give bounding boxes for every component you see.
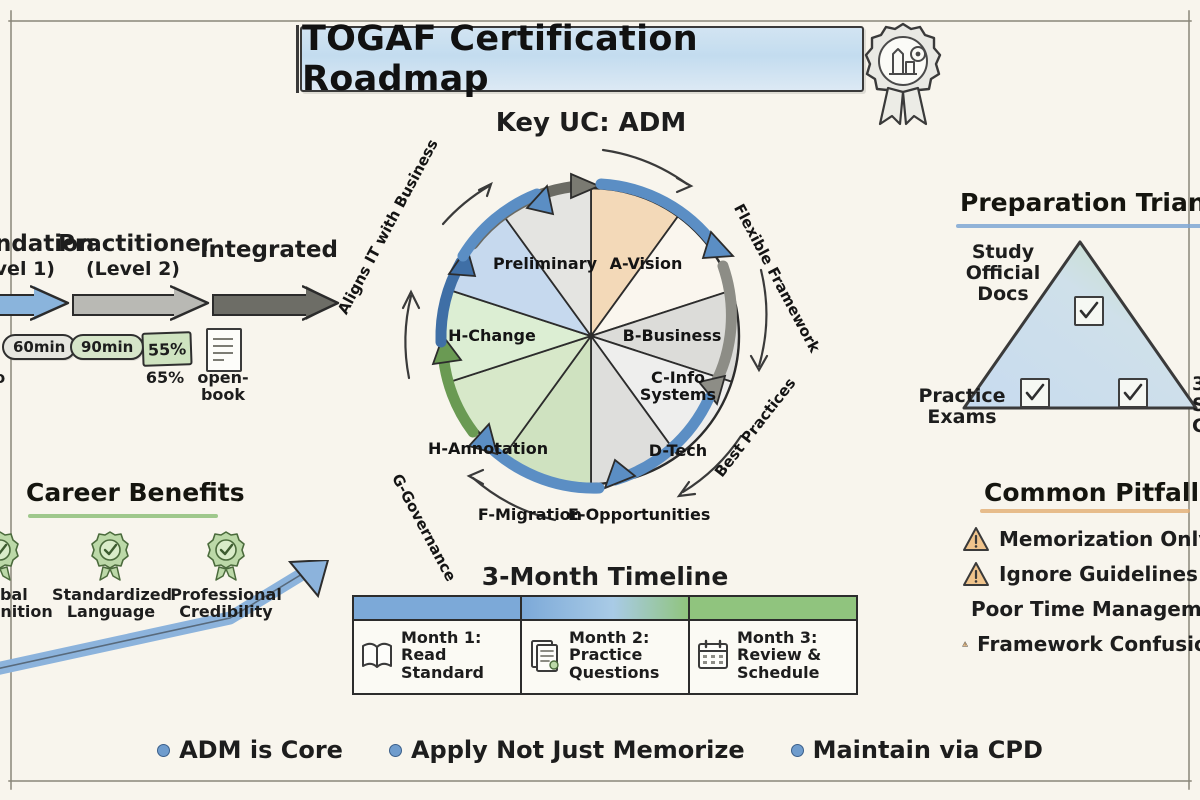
warning-triangle-icon	[962, 631, 968, 657]
timeline-month-3[interactable]: Month 3: Review & Schedule	[690, 597, 856, 693]
timeline-table: Month 1: Read Standard Month 2: Practice…	[352, 595, 858, 695]
award-badge-icon	[0, 530, 20, 582]
career-heading: Career Benefits	[26, 478, 245, 507]
wheel-segment-d-tech: D-Tech	[636, 443, 720, 460]
calendar-icon	[696, 638, 730, 672]
pitfall-label-3: Framework Confusion	[977, 632, 1200, 656]
timeline-bar-3	[690, 597, 856, 621]
wheel-segment-b-business: B-Business	[614, 328, 730, 345]
prep-underline	[956, 224, 1200, 228]
pitfalls-underline	[980, 509, 1190, 513]
wheel-segment-a-vision: A-Vision	[594, 256, 698, 273]
title-banner-accent	[296, 25, 299, 93]
pitfall-label-2: Poor Time Management	[971, 597, 1200, 621]
career-underline	[28, 514, 218, 518]
timeline-label-3: Month 3: Review & Schedule	[737, 629, 821, 682]
bullet-dot-icon	[791, 744, 804, 757]
career-label-2: Professional Credibility	[166, 586, 286, 621]
pitfall-item: Poor Time Management	[962, 591, 1200, 626]
level-arrow-1	[72, 286, 208, 320]
level-1-name: Practitioner (Level 2)	[58, 232, 208, 281]
timeline-bar-2	[522, 597, 688, 621]
prep-checkbox-top[interactable]	[1074, 296, 1104, 326]
adm-wheel-section: Key UC: ADM	[356, 108, 826, 538]
career-benefits-section: Career Benefits Global Recognition Stand…	[0, 478, 308, 678]
prep-checkbox-right[interactable]	[1118, 378, 1148, 408]
key-takeaways: ADM is Core Apply Not Just Memorize Main…	[0, 736, 1200, 764]
wheel-segment-f-migration: F-Migration	[474, 507, 586, 524]
career-label-0: Global Recognition	[0, 586, 54, 621]
score-caption: 65%	[138, 370, 192, 387]
level-arrow-2	[212, 286, 338, 320]
level-2-name: Integrated	[200, 238, 330, 262]
pitfall-item: Memorization Only	[962, 521, 1200, 556]
prep-label-practice-exams: Practice Exams	[906, 386, 1018, 428]
pitfall-label-0: Memorization Only	[999, 527, 1200, 551]
takeaway-label-1: Apply Not Just Memorize	[411, 736, 745, 764]
bullet-dot-icon	[157, 744, 170, 757]
open-book-exam-icon	[206, 328, 242, 372]
takeaway-item: Maintain via CPD	[791, 736, 1043, 764]
timeline-bar-1	[354, 597, 520, 621]
certification-seal-icon	[862, 18, 944, 128]
prep-heading: Preparation Triangle	[960, 188, 1200, 217]
page-title: TOGAF Certification Roadmap	[302, 19, 862, 99]
pitfalls-heading: Common Pitfalls	[984, 478, 1200, 507]
openbook-caption: open- book	[192, 370, 254, 404]
level-arrow-0	[0, 286, 68, 320]
wheel-heading: Key UC: ADM	[356, 108, 826, 138]
preparation-triangle-section: Preparation Triangle Study Official Docs…	[950, 188, 1200, 438]
takeaway-item: Apply Not Just Memorize	[389, 736, 745, 764]
duration-pill-90: 90min	[70, 334, 144, 360]
timeline-label-2: Month 2: Practice Questions	[569, 629, 659, 682]
prep-label-study-guides: 3rd-Party Study Guides	[1192, 374, 1200, 437]
adm-wheel-diagram	[356, 144, 826, 538]
takeaway-label-0: ADM is Core	[179, 736, 343, 764]
takeaway-item: ADM is Core	[157, 736, 343, 764]
scenario-caption: scenario	[0, 370, 22, 387]
score-tag: 55%	[141, 331, 192, 367]
timeline-section: 3-Month Timeline Month 1: Read Standard …	[352, 562, 858, 702]
warning-triangle-icon	[962, 526, 990, 552]
takeaway-label-2: Maintain via CPD	[813, 736, 1043, 764]
wheel-segment-h-change: H-Change	[440, 328, 544, 345]
award-badge-icon	[206, 530, 246, 582]
timeline-month-1[interactable]: Month 1: Read Standard	[354, 597, 522, 693]
timeline-month-2[interactable]: Month 2: Practice Questions	[522, 597, 690, 693]
prep-label-study-docs: Study Official Docs	[948, 242, 1058, 305]
career-label-1: Standardized Language	[52, 586, 170, 621]
document-pages-icon	[528, 638, 562, 672]
wheel-segment-c-info-systems: C-Info Systems	[628, 370, 728, 404]
common-pitfalls-section: Common Pitfalls Memorization Only Ignore…	[962, 478, 1200, 698]
award-badge-icon	[90, 530, 130, 582]
duration-pill-60: 60min	[2, 334, 76, 360]
pitfall-item: Framework Confusion	[962, 626, 1200, 661]
prep-checkbox-left[interactable]	[1020, 378, 1050, 408]
infographic-canvas: TOGAF Certification Roadmap Foundation (…	[0, 0, 1200, 800]
wheel-segment-h-annotation: H-Annotation	[428, 441, 544, 458]
pitfall-label-1: Ignore Guidelines	[999, 562, 1198, 586]
page-border-bottom	[8, 780, 1192, 782]
timeline-label-1: Month 1: Read Standard	[401, 629, 484, 682]
pitfall-item: Ignore Guidelines	[962, 556, 1200, 591]
title-banner: TOGAF Certification Roadmap	[300, 26, 864, 92]
bullet-dot-icon	[389, 744, 402, 757]
warning-triangle-icon	[962, 561, 990, 587]
certification-levels: Foundation (Level 1) Practitioner (Level…	[0, 232, 350, 412]
wheel-segment-e-opportunities: E-Opportunities	[568, 507, 704, 524]
open-book-icon	[360, 638, 394, 672]
wheel-segment-preliminary: Preliminary	[490, 256, 600, 273]
timeline-heading: 3-Month Timeline	[352, 562, 858, 591]
